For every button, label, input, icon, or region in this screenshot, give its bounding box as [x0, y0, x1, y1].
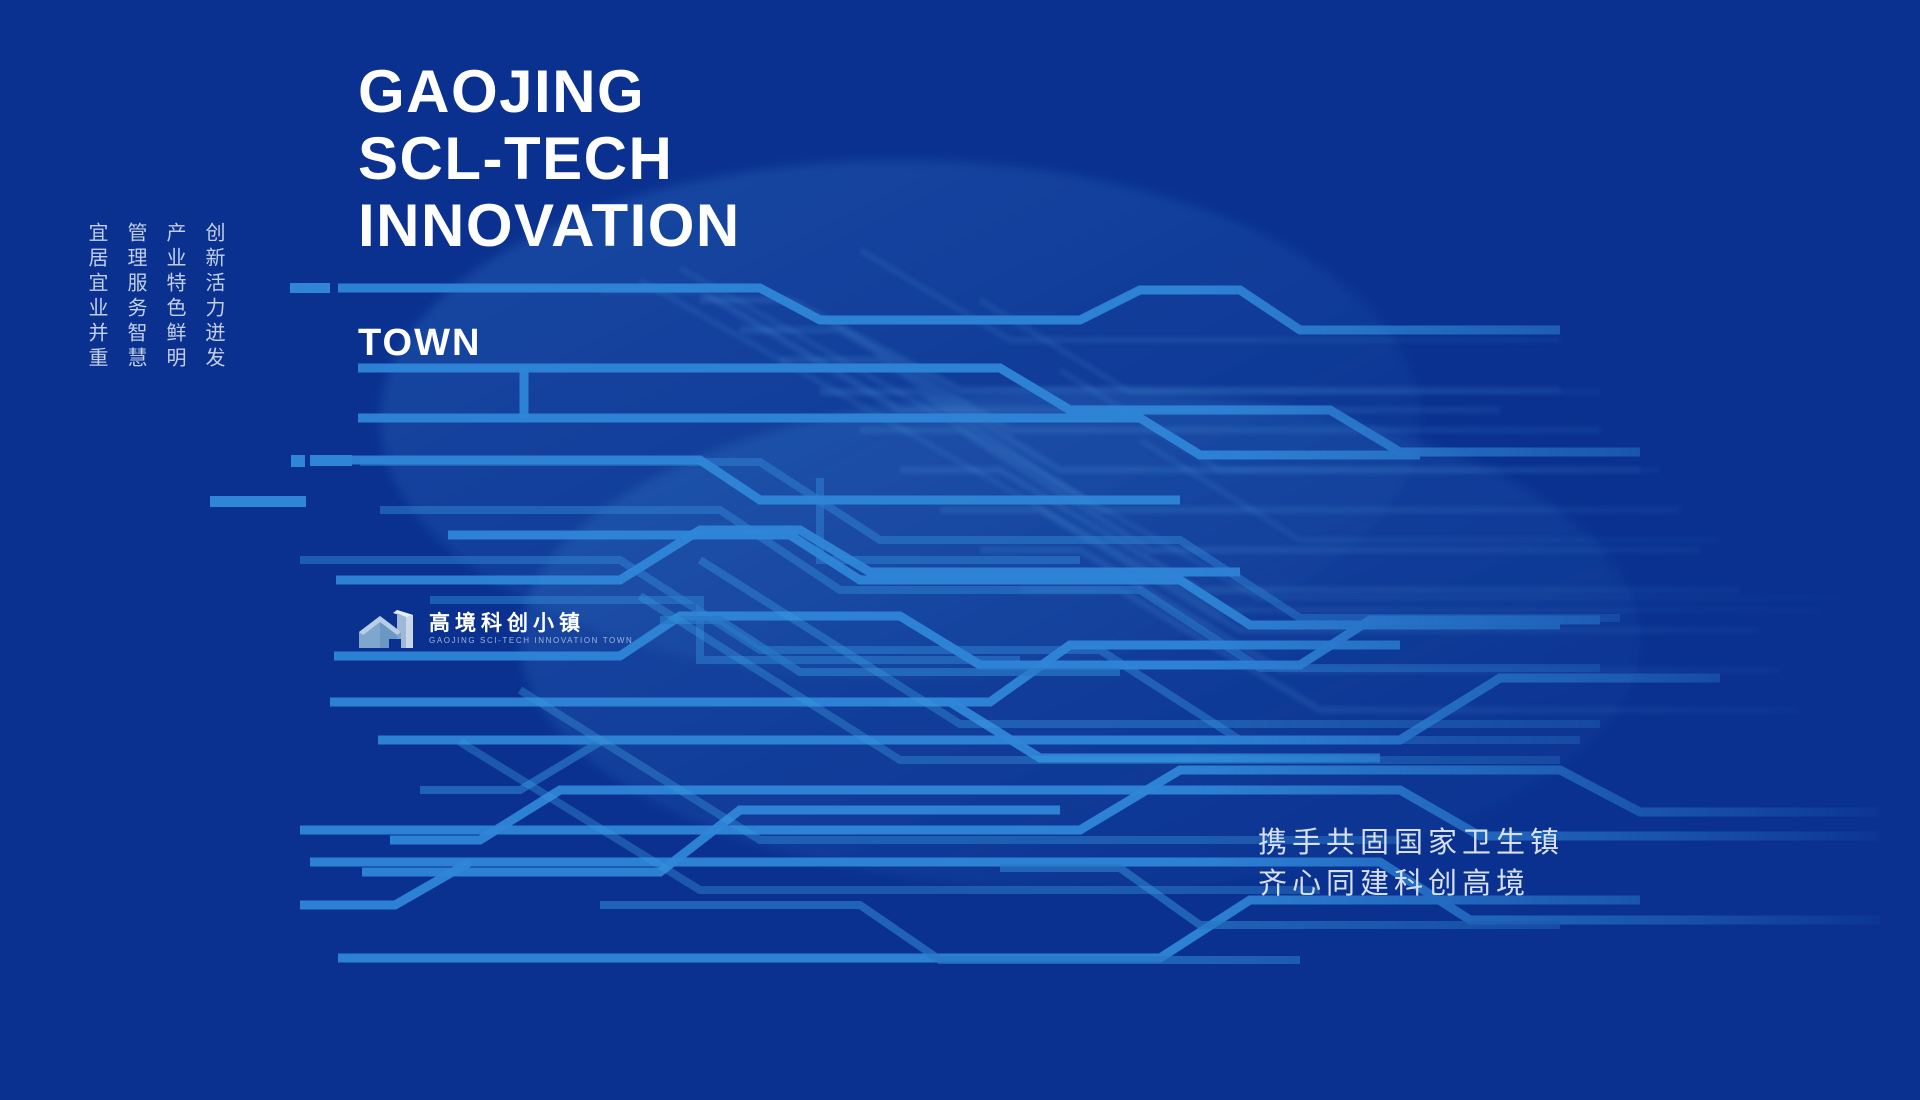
vertical-slogan-column-4: 宜居宜业并重	[84, 222, 109, 372]
headline-block: GAOJING SCL-TECH INNOVATION	[358, 58, 741, 260]
bottom-slogan-line-1: 携手共固国家卫生镇	[1258, 822, 1564, 863]
logo-name-en: GAOJING SCI-TECH INNOVATION TOWN	[429, 637, 633, 645]
headline-town-word: TOWN	[358, 322, 481, 365]
bottom-slogan-group: 携手共固国家卫生镇 齐心同建科创高境	[1258, 822, 1564, 904]
headline-line-2: SCL-TECH	[358, 125, 741, 192]
vertical-slogan-column-1: 创新活力迸发	[201, 222, 226, 372]
vertical-slogan-group: 创新活力迸发 产业特色鲜明 管理服务智慧 宜居宜业并重	[84, 222, 226, 372]
house-building-icon	[356, 604, 418, 654]
logo-text-wrap: 高境科创小镇 GAOJING SCI-TECH INNOVATION TOWN	[429, 613, 633, 645]
headline-line-3: INNOVATION	[358, 192, 741, 259]
logo-name-cn: 高境科创小镇	[429, 613, 633, 634]
brand-logo: 高境科创小镇 GAOJING SCI-TECH INNOVATION TOWN	[356, 604, 633, 654]
circuit-trace-artwork	[0, 0, 1920, 1100]
bottom-slogan-line-2: 齐心同建科创高境	[1258, 863, 1564, 904]
vertical-slogan-column-3: 管理服务智慧	[123, 222, 148, 372]
vertical-slogan-column-2: 产业特色鲜明	[162, 222, 187, 372]
poster-canvas: GAOJING SCL-TECH INNOVATION TOWN 创新活力迸发 …	[0, 0, 1920, 1100]
headline-line-1: GAOJING	[358, 58, 741, 125]
